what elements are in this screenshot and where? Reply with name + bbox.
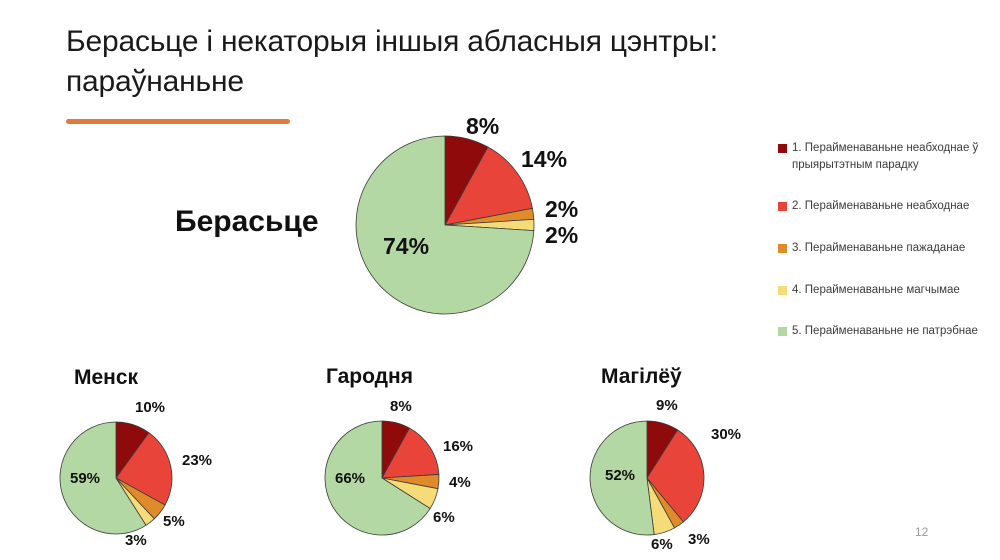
slide-canvas: Берасьце і некаторыя іншыя абласныя цэнт… [0, 0, 1000, 560]
legend-swatch-1-icon [778, 144, 787, 153]
legend-label-4: 4. Перайменаваньне магчымае [792, 282, 960, 299]
pie-mogilev-value-2: 30% [711, 426, 741, 443]
legend-swatch-4-icon [778, 286, 787, 295]
pie-chart-brest [355, 135, 535, 315]
legend-item-4[interactable]: 4. Перайменаваньне магчымае [778, 282, 986, 299]
pie-chart-minsk-title: Менск [74, 366, 138, 390]
pie-brest-value-3: 2% [545, 196, 578, 223]
pie-grodno-value-4: 6% [433, 509, 455, 526]
pie-brest-value-2: 14% [521, 146, 567, 173]
pie-minsk-value-1: 10% [135, 399, 165, 416]
pie-grodno-value-2: 16% [443, 438, 473, 455]
pie-grodno-value-5: 66% [335, 470, 365, 487]
legend-item-3[interactable]: 3. Перайменаваньне пажаданае [778, 240, 986, 257]
legend-swatch-2-icon [778, 202, 787, 211]
pie-mogilev-value-4: 6% [651, 536, 673, 553]
pie-brest-value-4: 2% [545, 222, 578, 249]
legend-item-1[interactable]: 1. Перайменаваньне неабходнае ў прыярытэ… [778, 140, 986, 173]
legend-label-1: 1. Перайменаваньне неабходнае ў прыярытэ… [792, 140, 986, 173]
legend-swatch-5-icon [778, 327, 787, 336]
legend-item-2[interactable]: 2. Перайменаваньне неабходнае [778, 198, 986, 215]
title-accent-rule [66, 119, 290, 124]
legend-label-3: 3. Перайменаваньне пажаданае [792, 240, 965, 257]
pie-minsk-value-2: 23% [182, 452, 212, 469]
page-number: 12 [915, 525, 928, 539]
pie-minsk-value-3: 5% [163, 513, 185, 530]
pie-minsk-value-4: 3% [125, 532, 147, 549]
pie-brest-value-1: 8% [466, 113, 499, 140]
legend-swatch-3-icon [778, 244, 787, 253]
legend-label-5: 5. Перайменаваньне не патрэбнае [792, 323, 978, 340]
pie-mogilev-value-3: 3% [688, 531, 710, 548]
pie-mogilev-value-1: 9% [656, 397, 678, 414]
pie-chart-brest-title: Берасьце [175, 205, 319, 239]
pie-brest-value-5: 74% [383, 233, 429, 260]
legend-label-2: 2. Перайменаваньне неабходнае [792, 198, 969, 215]
page-title: Берасьце і некаторыя іншыя абласныя цэнт… [66, 22, 786, 101]
pie-grodno-value-3: 4% [449, 474, 471, 491]
pie-chart-brest-svg [355, 135, 535, 315]
pie-grodno-value-1: 8% [390, 398, 412, 415]
pie-chart-mogilev-title: Магілёў [601, 365, 682, 389]
legend-item-5[interactable]: 5. Перайменаваньне не патрэбнае [778, 323, 986, 340]
pie-mogilev-value-5: 52% [605, 467, 635, 484]
pie-chart-grodno-title: Гародня [326, 365, 413, 389]
chart-legend: 1. Перайменаваньне неабходнае ў прыярытэ… [778, 140, 986, 365]
pie-minsk-value-5: 59% [70, 470, 100, 487]
